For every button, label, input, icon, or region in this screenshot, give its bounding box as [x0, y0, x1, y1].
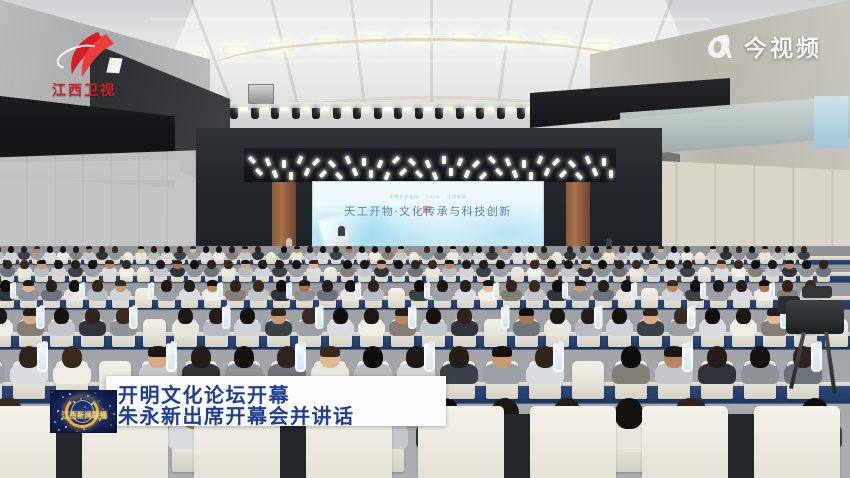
stage-grid-light: [265, 158, 272, 167]
attendee-hair: [190, 246, 196, 249]
watermark: 今视频: [705, 28, 822, 64]
stage-grid-light: [345, 156, 352, 165]
stage-grid-light: [335, 172, 343, 181]
stage-grid-light: [272, 170, 279, 179]
stage-grid-light: [575, 172, 583, 181]
attendee-head: [122, 260, 130, 269]
attendee-shoulders: [459, 267, 474, 277]
wall-right-window-upper: [814, 96, 848, 148]
water-bottle: [424, 344, 435, 373]
attendee-head: [736, 308, 750, 324]
audience-area: [0, 246, 850, 478]
logo-star: [94, 392, 96, 394]
attendee-head: [775, 246, 781, 253]
stage-grid-light: [328, 160, 336, 169]
attendee-shoulders: [527, 267, 542, 277]
water-bottle: [79, 284, 85, 300]
stage-grid-light: [544, 168, 551, 177]
attendee-hair: [658, 246, 664, 249]
attendee-hair: [173, 260, 181, 264]
attendee-shoulders: [340, 267, 355, 277]
logo-star: [58, 429, 60, 431]
attendee-head: [364, 308, 378, 324]
logo-star: [76, 431, 78, 433]
led-main-text: 天工开物·文化传承与科技创新: [313, 203, 543, 219]
stage-grid-light: [362, 158, 366, 166]
stage-grid-light: [529, 172, 533, 180]
water-bottle: [594, 307, 603, 329]
attendee-head: [190, 260, 198, 269]
truss-spotlight: [476, 108, 484, 119]
attendee-head: [788, 246, 794, 253]
attendee-shoulders: [442, 267, 457, 277]
attendee-hair: [717, 260, 725, 264]
stage-grid-light: [282, 160, 286, 168]
water-bottle: [687, 307, 696, 329]
attendee-head: [632, 260, 640, 269]
attendee-head: [343, 260, 351, 269]
water-bottle: [37, 344, 48, 373]
stage-grid-light: [352, 168, 359, 177]
attendee-head: [0, 308, 7, 324]
water-bottle: [769, 284, 775, 300]
attendee-head: [528, 246, 534, 253]
attendee-head: [496, 260, 504, 269]
water-bottle: [36, 307, 45, 329]
truss-spotlight: [230, 108, 238, 119]
attendee-head: [736, 246, 742, 253]
attendee-shoulders: [544, 267, 559, 277]
stage-grid-light: [392, 156, 400, 165]
attendee-head: [671, 246, 677, 253]
lower-third-caption: 开明文化论坛开幕 朱永新出席开幕会并讲话: [106, 376, 446, 426]
truss-spotlight: [394, 108, 402, 119]
stage-grid-light: [537, 156, 544, 165]
stage-grid-light: [415, 170, 423, 179]
attendee-head: [437, 280, 448, 292]
truss-spotlight: [435, 108, 443, 119]
attendee-head: [8, 246, 14, 253]
attendee-head: [723, 246, 729, 253]
water-bottle: [355, 284, 361, 300]
truss-spotlight-beam: [342, 107, 351, 111]
stage-grid-light: [559, 170, 567, 179]
attendee-head: [255, 246, 261, 253]
attendee-head: [449, 346, 469, 368]
attendee-hair: [519, 308, 533, 316]
attendee-head: [161, 280, 172, 292]
stage-grid-light: [312, 158, 320, 167]
attendee-shoulders: [476, 267, 491, 277]
water-bottle: [129, 307, 138, 329]
attendee-shoulders: [425, 267, 440, 277]
water-bottle: [553, 344, 564, 373]
attendee-head: [230, 280, 241, 292]
attendee-head: [177, 246, 183, 253]
chair: [572, 361, 604, 399]
attendee-head: [684, 246, 690, 253]
attendee-head: [457, 308, 471, 324]
attendee-head: [156, 260, 164, 269]
attendee-shoulders: [782, 267, 797, 277]
attendee-hair: [581, 260, 589, 264]
chair: [641, 288, 658, 308]
logo-star: [113, 413, 115, 415]
truss-spotlight-beam: [506, 107, 515, 111]
attendee-head: [151, 246, 157, 253]
attendee-head: [368, 280, 379, 292]
attendee-shoulders: [765, 267, 780, 277]
attendee-shoulders: [493, 267, 508, 277]
stage-grid-light: [255, 168, 263, 177]
attendee-head: [164, 246, 170, 253]
attendee-hair: [86, 246, 92, 249]
stage-grid-light: [384, 172, 391, 181]
stage-grid-light: [568, 160, 576, 169]
attendee-head: [462, 260, 470, 269]
stage-grid-light: [464, 170, 471, 179]
attendee-head: [47, 246, 53, 253]
logo-block-icon: [106, 58, 122, 74]
logo-star: [109, 405, 111, 407]
attendee-head: [529, 280, 540, 292]
truss-spotlight-beam: [362, 107, 371, 111]
chair: [698, 267, 711, 282]
attendee-head: [178, 308, 192, 324]
attendee-head: [567, 246, 573, 253]
truss-spotlight: [312, 108, 320, 119]
attendee-head: [666, 260, 674, 269]
attendee-shoulders: [85, 267, 100, 277]
attendee-head: [632, 246, 638, 253]
attendee-shoulders: [680, 267, 695, 277]
stage-grid-light: [592, 168, 599, 177]
attendee-head: [705, 308, 719, 324]
water-bottle: [217, 284, 223, 300]
attendee-head: [736, 280, 747, 292]
stage-grid-light: [522, 160, 526, 168]
foreground-chair: [642, 406, 728, 478]
attendee-hair: [320, 346, 340, 357]
water-bottle: [700, 284, 706, 300]
attendee-head: [479, 260, 487, 269]
water-bottle: [562, 284, 568, 300]
truss-spotlight-beam: [383, 107, 392, 111]
truss-spotlight-beam: [465, 107, 474, 111]
stage-grid-light: [442, 156, 446, 164]
logo-star: [83, 428, 85, 430]
attendee-shoulders: [391, 267, 406, 277]
attendee-head: [207, 260, 215, 269]
attendee-shoulders: [374, 267, 389, 277]
truss-spotlight: [415, 108, 423, 119]
attendee-shoulders: [629, 267, 644, 277]
attendee-head: [463, 246, 469, 253]
stage-grid-light: [472, 160, 480, 169]
attendee-head: [360, 260, 368, 269]
stage-light-grid: [244, 148, 616, 182]
attendee-head: [751, 260, 759, 269]
stage-grid-light: [602, 158, 606, 166]
attendee-shoulders: [306, 267, 321, 277]
stage-grid-light: [495, 168, 503, 177]
stage-grid-light: [297, 156, 304, 165]
truss-spotlight-beam: [403, 107, 412, 111]
water-bottle: [408, 307, 417, 329]
attendee-head: [359, 246, 365, 253]
attendee-shoulders: [646, 267, 661, 277]
attendee-head: [437, 246, 443, 253]
attendee-hair: [492, 346, 512, 357]
truss-spotlight: [271, 108, 279, 119]
channel-logo: 江西卫视: [52, 28, 148, 106]
attendee-shoulders: [51, 267, 66, 277]
program-logo: 江西新闻联播: [50, 390, 117, 433]
attendee-hair: [346, 246, 352, 249]
logo-star: [51, 391, 53, 393]
stage-grid-light: [479, 172, 487, 181]
stage-grid-light: [408, 158, 416, 167]
attendee-head: [62, 346, 82, 368]
attendee-head: [489, 246, 495, 253]
stage-grid-light: [425, 160, 432, 169]
attendee-hair: [606, 246, 612, 249]
attendee-head: [750, 346, 770, 368]
attendee-shoulders: [238, 267, 253, 277]
attendee-shoulders: [17, 267, 32, 277]
logo-star: [98, 400, 100, 402]
truss-spotlight: [333, 108, 341, 119]
attendee-hair: [445, 260, 453, 264]
truss-spotlight-beam: [424, 107, 433, 111]
attendee-shoulders: [748, 267, 763, 277]
stage-grid-light: [399, 168, 407, 177]
water-bottle: [148, 284, 154, 300]
attendee-shoulders: [799, 267, 814, 277]
attendee-head: [258, 260, 266, 269]
truss-spotlight: [353, 108, 361, 119]
attendee-shoulders: [816, 267, 831, 277]
attendee-head: [428, 260, 436, 269]
attendee-shoulders: [204, 267, 219, 277]
water-bottle: [682, 344, 693, 373]
stage-grid-light: [319, 170, 327, 179]
truss-spotlight-beam: [280, 107, 289, 111]
attendee-hair: [138, 246, 144, 249]
attendee-head: [99, 246, 105, 253]
logo-star: [69, 393, 71, 395]
attendee-head: [253, 280, 264, 292]
water-bottle: [811, 344, 822, 373]
attendee-head: [612, 308, 626, 324]
attendee-head: [307, 246, 313, 253]
water-bottle: [493, 284, 499, 300]
attendee-head: [598, 280, 609, 292]
attendee-hair: [377, 260, 385, 264]
attendee-head: [21, 246, 27, 253]
attendee-shoulders: [0, 363, 5, 385]
chair: [137, 267, 150, 282]
attendee-hair: [271, 308, 285, 316]
video-frame: 开明文化论坛 · 2024 · 江西南昌 天工开物·文化传承与科技创新 江西卫视…: [0, 0, 850, 478]
stage-grid-light: [289, 172, 293, 180]
foreground-chair: [0, 406, 56, 478]
stage-grid-light: [377, 160, 384, 169]
attendee-hair: [649, 260, 657, 264]
truss-spotlight-beam: [260, 107, 269, 111]
water-bottle: [222, 307, 231, 329]
water-bottle: [10, 284, 16, 300]
truss-hanger-left: [248, 84, 274, 104]
attendee-head: [802, 260, 810, 269]
attendee-hair: [762, 246, 768, 249]
logo-star: [62, 396, 64, 398]
attendee-hair: [37, 260, 45, 264]
attendee-shoulders: [663, 267, 678, 277]
attendee-hair: [299, 280, 310, 286]
watermark-label: 今视频: [744, 29, 822, 63]
attendee-head: [281, 246, 287, 253]
attendee-head: [333, 246, 339, 253]
attendee-head: [203, 246, 209, 253]
attendee-shoulders: [289, 267, 304, 277]
attendee-shoulders: [221, 267, 236, 277]
attendee-head: [645, 246, 651, 253]
attendee-head: [460, 280, 471, 292]
attendee-hair: [575, 280, 586, 286]
attendee-head: [240, 308, 254, 324]
attendee-shoulders: [357, 267, 372, 277]
attendee-head: [216, 246, 222, 253]
truss-spotlight-beam: [321, 107, 330, 111]
attendee-hair: [294, 246, 300, 249]
attendee-head: [333, 308, 347, 324]
attendee-shoulders: [255, 267, 270, 277]
attendee-head: [394, 260, 402, 269]
attendee-head: [424, 246, 430, 253]
attendee-head: [71, 260, 79, 269]
attendee-head: [54, 260, 62, 269]
attendee-head: [615, 398, 644, 429]
attendee-hair: [785, 260, 793, 264]
attendee-head: [541, 246, 547, 253]
truss-spotlight: [497, 108, 505, 119]
attendee-shoulders: [561, 267, 576, 277]
stage-grid-light: [609, 170, 613, 178]
stage-grid-light: [369, 170, 373, 178]
truss-spotlight: [517, 108, 525, 119]
stage-grid-light: [488, 156, 496, 165]
attendee-head: [707, 346, 727, 368]
attendee-head: [593, 246, 599, 253]
foreground-chair: [754, 406, 840, 478]
attendee-shoulders: [731, 267, 746, 277]
stage-grid-light: [512, 170, 519, 179]
attendee-hair: [148, 346, 168, 357]
camera-top-handle: [802, 286, 832, 298]
truss-spotlight-beam: [485, 107, 494, 111]
attendee-head: [768, 260, 776, 269]
attendee-head: [292, 260, 300, 269]
attendee-hair: [710, 246, 716, 249]
attendee-head: [426, 308, 440, 324]
attendee-head: [530, 260, 538, 269]
attendee-head: [506, 280, 517, 292]
attendee-hair: [105, 260, 113, 264]
stage-grid-light: [552, 158, 560, 167]
attendee-head: [683, 260, 691, 269]
attendee-head: [801, 246, 807, 253]
truss-spotlight: [251, 108, 259, 119]
stage-grid-light: [248, 156, 256, 165]
chair: [143, 319, 166, 347]
attendee-head: [234, 346, 254, 368]
attendee-hair: [664, 346, 684, 357]
attendee-head: [580, 246, 586, 253]
led-subtitle-text: 开明文化论坛 · 2024 · 江西南昌: [313, 194, 543, 200]
chair: [695, 252, 705, 264]
attendee-head: [621, 346, 641, 368]
attendee-head: [547, 260, 555, 269]
attendee-head: [224, 260, 232, 269]
attendee-hair: [643, 308, 657, 316]
attendee-head: [476, 246, 482, 253]
attendee-hair: [398, 246, 404, 249]
attendee-hair: [450, 246, 456, 249]
water-bottle: [315, 307, 324, 329]
attendee-hair: [667, 280, 678, 286]
attendee-head: [19, 346, 39, 368]
attendee-head: [598, 260, 606, 269]
attendee-head: [615, 260, 623, 269]
attendee-head: [191, 346, 211, 368]
truss-spotlight-beam: [444, 107, 453, 111]
attendee-shoulders: [170, 267, 185, 277]
attendee-shoulders: [714, 267, 729, 277]
attendee-head: [229, 246, 235, 253]
attendee-head: [20, 260, 28, 269]
attendee-head: [322, 280, 333, 292]
attendee-shoulders: [272, 267, 287, 277]
attendee-head: [550, 308, 564, 324]
attendee-head: [88, 260, 96, 269]
stage-grid-light: [585, 156, 592, 165]
attendee-head: [54, 308, 68, 324]
attendee-head: [734, 260, 742, 269]
speaker-at-podium: [338, 226, 345, 236]
stage-grid-light: [304, 168, 311, 177]
channel-logo-label: 江西卫视: [52, 80, 148, 100]
stage-grid-light: [432, 172, 439, 181]
attendee-shoulders: [187, 267, 202, 277]
attendee-head: [782, 280, 793, 292]
attendee-shoulders: [595, 267, 610, 277]
attendee-hair: [309, 260, 317, 264]
water-bottle: [166, 344, 177, 373]
attendee-hair: [502, 246, 508, 249]
attendee-head: [385, 246, 391, 253]
attendee-shoulders: [578, 267, 593, 277]
program-logo-label: 江西新闻联播: [56, 410, 112, 421]
attendee-head: [411, 260, 419, 269]
caption-line-2: 朱永新出席开幕会并讲话: [118, 400, 355, 429]
attendee-head: [60, 246, 66, 253]
attendee-hair: [23, 280, 34, 286]
attendee-hair: [34, 246, 40, 249]
truss-spotlight-beam: [239, 107, 248, 111]
attendee-head: [713, 280, 724, 292]
logo-star: [54, 421, 56, 423]
